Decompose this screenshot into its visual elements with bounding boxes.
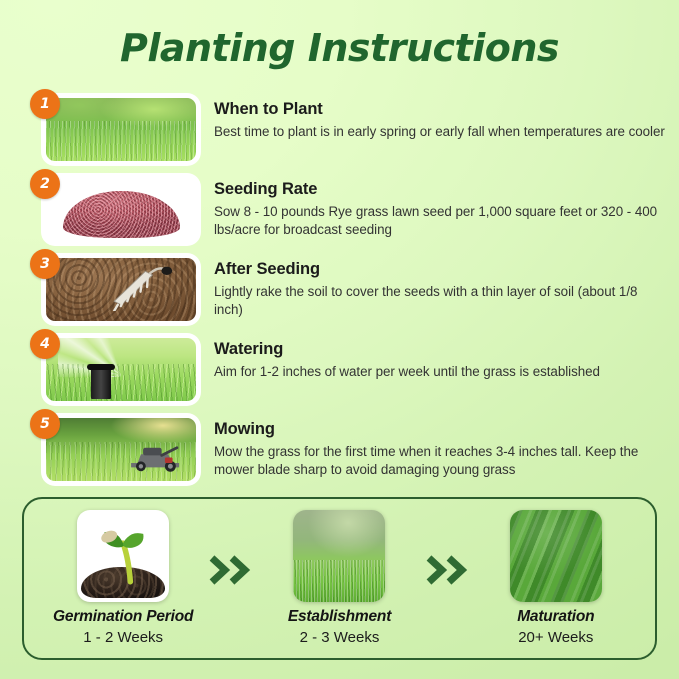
step-body: Lightly rake the soil to cover the seeds… xyxy=(214,283,665,319)
step-thumbnail-wrap: 5 xyxy=(46,418,196,481)
planting-instructions-infographic: Planting Instructions 1 When to Plant Be… xyxy=(0,0,679,679)
step-thumbnail-wrap: 3 xyxy=(46,258,196,321)
phase-label: Maturation xyxy=(475,608,637,627)
step-item: 1 When to Plant Best time to plant is in… xyxy=(0,98,679,172)
step-number-badge: 1 xyxy=(30,89,60,119)
timeline-phase: Germination Period 1 - 2 Weeks xyxy=(42,510,204,647)
step-item: 2 Seeding Rate Sow 8 - 10 pounds Rye gra… xyxy=(0,178,679,252)
step-heading: Mowing xyxy=(214,419,665,440)
water-spray-image xyxy=(46,338,196,401)
step-body: Aim for 1-2 inches of water per week unt… xyxy=(214,363,665,381)
chevron-glyphs xyxy=(208,554,254,586)
chevron-glyphs xyxy=(425,554,471,586)
sprinkler-head-icon xyxy=(91,364,111,399)
phase-label: Establishment xyxy=(258,608,420,627)
step-number-badge: 4 xyxy=(30,329,60,359)
seedling-sprout-photo xyxy=(77,510,169,602)
step-heading: When to Plant xyxy=(214,99,665,120)
rake-on-soil-photo xyxy=(46,258,196,321)
timeline-phase: Maturation 20+ Weeks xyxy=(475,510,637,647)
step-text-block: When to Plant Best time to plant is in e… xyxy=(196,98,679,141)
step-heading: Seeding Rate xyxy=(214,179,665,200)
double-chevron-right-icon xyxy=(204,554,258,604)
lawn-mower-icon xyxy=(121,439,187,472)
step-body: Sow 8 - 10 pounds Rye grass lawn seed pe… xyxy=(214,203,665,239)
double-chevron-right-icon xyxy=(421,554,475,604)
step-text-block: Watering Aim for 1-2 inches of water per… xyxy=(196,338,679,381)
step-number-badge: 3 xyxy=(30,249,60,279)
sprinkler-watering-photo xyxy=(46,338,196,401)
young-grass-photo xyxy=(293,510,385,602)
step-number-badge: 2 xyxy=(30,169,60,199)
phase-duration: 1 - 2 Weeks xyxy=(42,628,204,648)
lawn-mower-photo xyxy=(46,418,196,481)
rake-icon xyxy=(94,263,187,311)
step-heading: After Seeding xyxy=(214,259,665,280)
phase-duration: 2 - 3 Weeks xyxy=(258,628,420,648)
seed-pile-image xyxy=(46,178,196,241)
grass-seed-pile-photo xyxy=(46,178,196,241)
sprout-icon xyxy=(77,510,169,602)
phase-duration: 20+ Weeks xyxy=(475,628,637,648)
step-item: 5 Mowing Mow th xyxy=(0,418,679,492)
timeline-phase: Establishment 2 - 3 Weeks xyxy=(258,510,420,647)
grass-field-image xyxy=(46,98,196,161)
step-heading: Watering xyxy=(214,339,665,360)
step-thumbnail-wrap: 1 xyxy=(46,98,196,161)
page-title: Planting Instructions xyxy=(0,26,679,70)
mature-turf-photo xyxy=(510,510,602,602)
step-item: 3 xyxy=(0,258,679,332)
step-text-block: After Seeding Lightly rake the soil to c… xyxy=(196,258,679,319)
steps-list: 1 When to Plant Best time to plant is in… xyxy=(0,98,679,498)
step-body: Mow the grass for the first time when it… xyxy=(214,443,665,479)
phase-label: Germination Period xyxy=(42,608,204,627)
lawn-grass-photo xyxy=(46,98,196,161)
step-number-badge: 5 xyxy=(30,409,60,439)
step-text-block: Mowing Mow the grass for the first time … xyxy=(196,418,679,479)
growth-timeline: Germination Period 1 - 2 Weeks Establish… xyxy=(22,497,657,660)
step-thumbnail-wrap: 4 xyxy=(46,338,196,401)
step-text-block: Seeding Rate Sow 8 - 10 pounds Rye grass… xyxy=(196,178,679,239)
step-thumbnail-wrap: 2 xyxy=(46,178,196,241)
step-body: Best time to plant is in early spring or… xyxy=(214,123,665,141)
step-item: 4 Watering Aim for 1-2 inches of water p… xyxy=(0,338,679,412)
